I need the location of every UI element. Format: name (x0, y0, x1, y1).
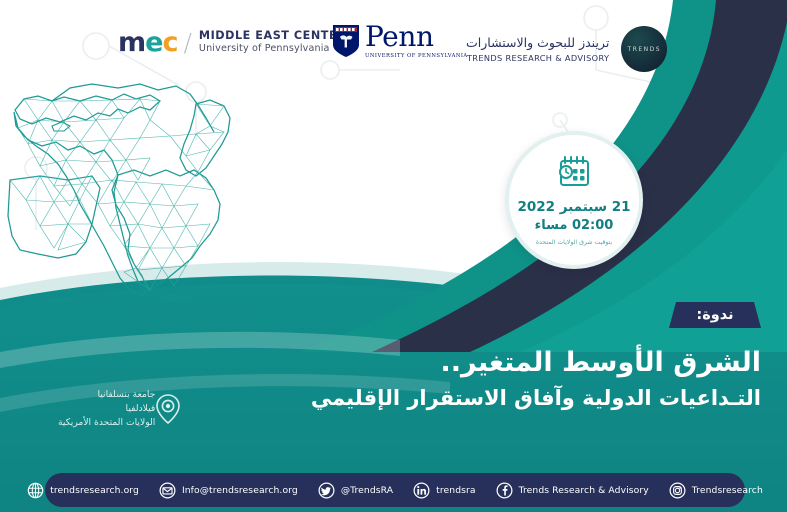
mec-subtitle: University of Pennsylvania (199, 44, 346, 55)
event-date: 21 سبتمبر 2022 (517, 199, 630, 215)
email-icon (159, 482, 176, 499)
footer-item-twitter[interactable]: @TrendsRA (318, 482, 393, 499)
facebook-icon (496, 482, 513, 499)
penn-logo: Penn UNIVERSITY OF PENNSYLVANIA (332, 24, 468, 59)
footer-item-email[interactable]: Info@trendsresearch.org (159, 482, 298, 499)
footer-contact-bar: trendsresearch.org Info@trendsresearch.o… (45, 473, 745, 507)
trends-badge-icon: TRENDS (621, 26, 667, 72)
event-title-line2: التـداعيات الدولية وآفاق الاستقرار الإقل… (311, 385, 761, 411)
venue-text: جامعة بنسلفانيا فيلادلفيا الولايات المتح… (58, 388, 155, 429)
event-time: 02:00 مساء (535, 218, 614, 233)
event-title-line1: الشرق الأوسط المتغير.. (311, 347, 761, 379)
trends-english-name: TRENDS RESEARCH & ADVISORY (466, 53, 609, 63)
mec-divider: / (183, 30, 191, 55)
title-block: ندوة: الشرق الأوسط المتغير.. التـداعيات … (311, 302, 761, 412)
event-timezone: بتوقيت شرق الولايات المتحدة (536, 239, 612, 246)
location-pin-icon (155, 394, 181, 424)
footer-item-facebook[interactable]: Trends Research & Advisory (496, 482, 649, 499)
footer-item-instagram[interactable]: Trendsresearch (669, 482, 763, 499)
seminar-badge-label: ندوة: (669, 302, 761, 328)
venue-line2: فيلادلفيا (58, 402, 155, 416)
footer-facebook-label: Trends Research & Advisory (519, 485, 649, 496)
seminar-badge: ندوة: (669, 302, 761, 328)
trends-text: تريندز للبحوث والاستشارات TRENDS RESEARC… (466, 35, 609, 63)
footer-linkedin-label: trendsra (436, 485, 475, 496)
venue-line1: جامعة بنسلفانيا (58, 388, 155, 402)
trends-badge-label: TRENDS (628, 46, 662, 53)
instagram-icon (669, 482, 686, 499)
mec-title: MIDDLE EAST CENTER (199, 30, 346, 43)
footer-email-label: Info@trendsresearch.org (182, 485, 298, 496)
footer-item-website[interactable]: trendsresearch.org (27, 482, 139, 499)
logo-row: mec / MIDDLE EAST CENTER University of P… (0, 0, 787, 86)
date-time-card: 21 سبتمبر 2022 02:00 مساء بتوقيت شرق الو… (505, 131, 643, 269)
mec-logo: mec / MIDDLE EAST CENTER University of P… (118, 29, 346, 56)
penn-wordmark: Penn (365, 24, 468, 51)
penn-subtitle: UNIVERSITY OF PENNSYLVANIA (365, 54, 468, 59)
venue-line3: الولايات المتحدة الأمريكية (58, 416, 155, 430)
linkedin-icon (413, 482, 430, 499)
calendar-clock-icon (554, 154, 594, 190)
mec-wordmark: mec (118, 29, 177, 56)
event-poster: mec / MIDDLE EAST CENTER University of P… (0, 0, 787, 512)
mec-letter-c: c (162, 27, 177, 58)
penn-wordmark-block: Penn UNIVERSITY OF PENNSYLVANIA (365, 24, 468, 59)
trends-logo: تريندز للبحوث والاستشارات TRENDS RESEARC… (466, 26, 667, 72)
penn-shield-icon (332, 24, 360, 58)
footer-item-linkedin[interactable]: trendsra (413, 482, 475, 499)
twitter-icon (318, 482, 335, 499)
globe-icon (27, 482, 44, 499)
footer-instagram-label: Trendsresearch (692, 485, 763, 496)
trends-arabic-name: تريندز للبحوث والاستشارات (466, 35, 609, 51)
mec-letter-e: e (145, 27, 162, 58)
mec-text: MIDDLE EAST CENTER University of Pennsyl… (199, 30, 346, 54)
footer-twitter-label: @TrendsRA (341, 485, 393, 496)
footer-website-label: trendsresearch.org (50, 485, 139, 496)
mec-letter-m: m (118, 27, 145, 58)
venue-block: جامعة بنسلفانيا فيلادلفيا الولايات المتح… (58, 388, 189, 429)
